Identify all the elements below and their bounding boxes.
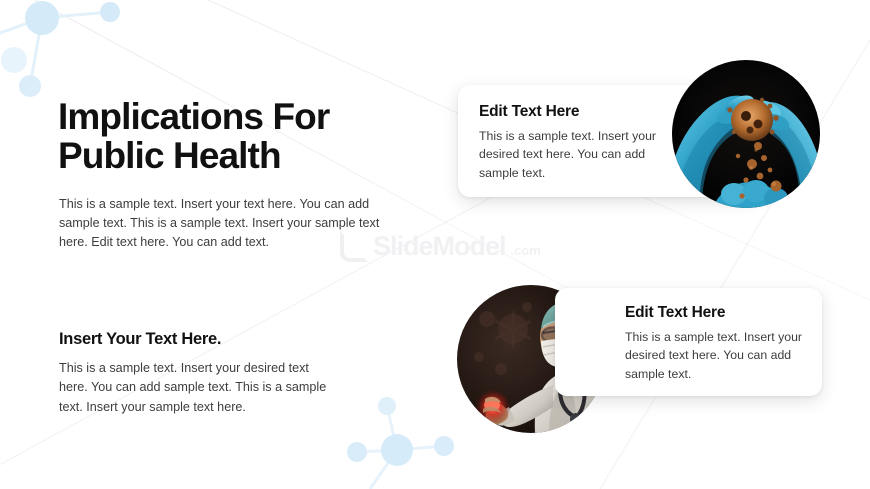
card-top-body: This is a sample text. Insert your desir… (479, 127, 659, 182)
sub-paragraph: This is a sample text. Insert your desir… (59, 359, 339, 419)
slidemodel-watermark: SlideModel .com (340, 231, 541, 262)
molecule-decoration-bottom-center (347, 397, 454, 489)
watermark-suffix: .com (511, 243, 541, 258)
accent-dot (1, 47, 27, 73)
gloved-hands-virus-photo (672, 60, 820, 208)
lead-paragraph: This is a sample text. Insert your text … (59, 195, 387, 252)
card-top-title: Edit Text Here (479, 103, 659, 121)
page-title: Implications For Public Health (58, 97, 418, 176)
slidemodel-logo-icon (340, 231, 368, 262)
content-card-bottom[interactable]: Edit Text Here This is a sample text. In… (555, 288, 822, 396)
molecule-decoration-top-left (0, 1, 120, 97)
card-bottom-title: Edit Text Here (625, 304, 805, 322)
sub-heading: Insert Your Text Here. (59, 330, 389, 349)
slide-canvas: Implications For Public Health This is a… (0, 0, 870, 489)
card-bottom-body: This is a sample text. Insert your desir… (625, 328, 805, 383)
watermark-brand: SlideModel (373, 231, 506, 262)
